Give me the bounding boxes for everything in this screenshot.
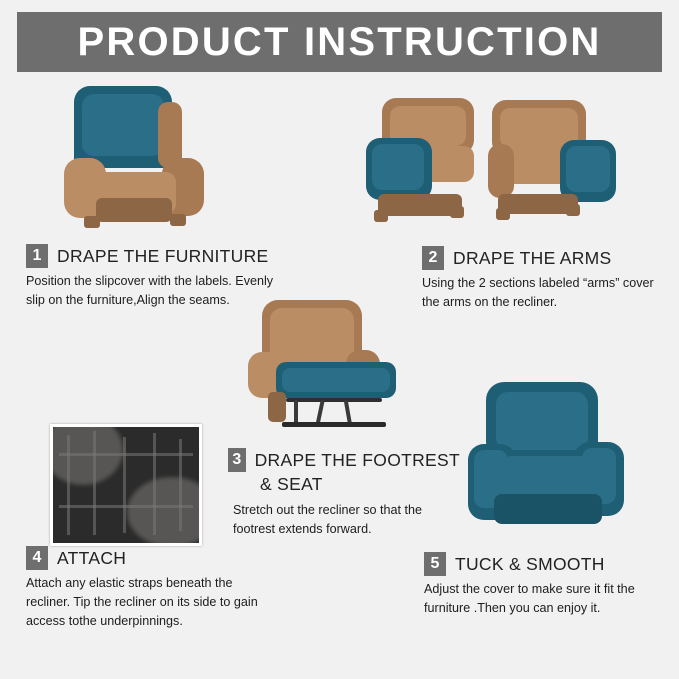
- step-1: 1 DRAPE THE FURNITURE Position the slipc…: [26, 244, 286, 310]
- tan-left-arm: [488, 144, 514, 198]
- photo-highlight-2: [127, 477, 202, 546]
- step-2-body: Using the 2 sections labeled “arms” cove…: [422, 274, 660, 312]
- strap-3: [123, 437, 126, 533]
- step-1-heading: 1 DRAPE THE FURNITURE: [26, 244, 286, 268]
- strap-4: [153, 433, 156, 535]
- tan-foot-left: [374, 210, 388, 222]
- tan-base: [96, 198, 172, 222]
- teal-seat-footrest-inner: [282, 368, 390, 392]
- tan-foot-right: [450, 206, 464, 218]
- recliner-step-4-photo: [50, 424, 202, 546]
- step-2-heading: 2 DRAPE THE ARMS: [422, 246, 660, 270]
- strap-1: [67, 435, 70, 535]
- step-1-number: 1: [26, 244, 48, 268]
- strap-2: [93, 431, 96, 535]
- page-title: PRODUCT INSTRUCTION: [77, 20, 601, 65]
- step-1-title: DRAPE THE FURNITURE: [57, 246, 269, 267]
- step-5-heading: 5 TUCK & SMOOTH: [424, 552, 662, 576]
- step-3-body: Stretch out the recliner so that the foo…: [233, 501, 460, 539]
- recliner-step-5: [468, 382, 628, 542]
- tan-foot-right: [566, 204, 580, 216]
- recliner-mechanism-base: [282, 422, 386, 427]
- step-4-body: Attach any elastic straps beneath the re…: [26, 574, 268, 631]
- step-5-number: 5: [424, 552, 446, 576]
- tan-base-left: [268, 392, 286, 422]
- step-5-title: TUCK & SMOOTH: [455, 554, 605, 575]
- strap-cross-1: [59, 453, 193, 456]
- teal-skirt: [494, 494, 602, 524]
- step-3-subtitle: & SEAT: [260, 474, 460, 495]
- recliner-step-2-right: [488, 100, 618, 226]
- instruction-page: PRODUCT INSTRUCTION: [0, 0, 679, 679]
- step-3: 3 DRAPE THE FOOTREST & SEAT Stretch out …: [228, 448, 460, 539]
- step-3-number: 3: [228, 448, 246, 472]
- recliner-step-1: [58, 86, 218, 231]
- header-banner: PRODUCT INSTRUCTION: [17, 12, 662, 72]
- teal-arm-cover-inner: [372, 144, 424, 190]
- step-2: 2 DRAPE THE ARMS Using the 2 sections la…: [422, 246, 660, 312]
- step-4: 4 ATTACH Attach any elastic straps benea…: [26, 546, 268, 631]
- step-1-body: Position the slipcover with the labels. …: [26, 272, 286, 310]
- tan-foot-right: [170, 214, 186, 226]
- step-2-title: DRAPE THE ARMS: [453, 248, 612, 269]
- recliner-step-2-left: [358, 98, 488, 228]
- teal-arm-cover-inner: [566, 146, 610, 192]
- recliner-step-3: [242, 300, 417, 450]
- step-5-body: Adjust the cover to make sure it fit the…: [424, 580, 662, 618]
- teal-backrest-inner: [496, 392, 588, 450]
- step-4-number: 4: [26, 546, 48, 570]
- step-5: 5 TUCK & SMOOTH Adjust the cover to make…: [424, 552, 662, 618]
- step-4-title: ATTACH: [57, 548, 126, 569]
- teal-back-cover-inner: [82, 94, 164, 156]
- step-4-heading: 4 ATTACH: [26, 546, 268, 570]
- step-3-title: DRAPE THE FOOTREST: [255, 450, 460, 471]
- step-2-number: 2: [422, 246, 444, 270]
- recliner-mechanism-bar: [286, 398, 382, 402]
- strap-cross-2: [59, 505, 193, 508]
- step-3-heading: 3 DRAPE THE FOOTREST: [228, 448, 460, 472]
- tan-foot-left: [496, 208, 510, 220]
- tan-foot-left: [84, 216, 100, 228]
